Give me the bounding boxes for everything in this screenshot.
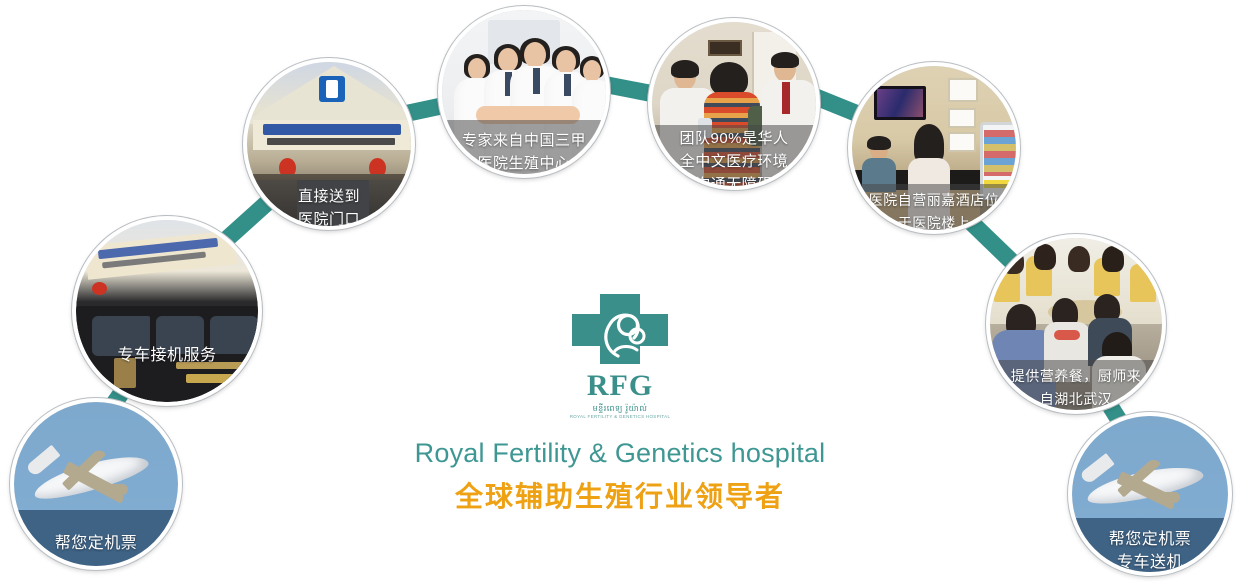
van-icon [76, 220, 258, 402]
node-caption: 帮您定机票 [14, 510, 178, 570]
node-experts-from-china[interactable]: 专家来自中国三甲 医院生殖中心 [438, 6, 610, 178]
node-airport-pickup-service[interactable]: 专车接机服务 [72, 216, 262, 406]
cross-mother-child-icon [540, 292, 700, 366]
infographic-canvas: 帮您定机票 专车接机服务 [0, 0, 1240, 582]
brand-block: Royal Fertility & Genetics hospital 全球辅助… [0, 438, 1240, 515]
hospital-van-photo [76, 220, 258, 402]
node-caption: 直接送到 医院门口 [247, 180, 411, 230]
node-hospital-owned-hotel[interactable]: 医院自营丽嘉酒店位 于医院楼上 [848, 62, 1020, 234]
rfg-logo: RFG មន្ទីរពេទ្យ រ៉ូយ៉ាល់ ROYAL FERTILITY… [540, 292, 700, 400]
brand-english-name: Royal Fertility & Genetics hospital [0, 438, 1240, 469]
logo-acronym: RFG [540, 371, 700, 401]
node-nutritious-meals[interactable]: 提供营养餐，厨师来 自湖北武汉 [986, 234, 1166, 414]
node-caption: 帮您定机票 专车送机 [1072, 518, 1228, 576]
node-caption: 提供营养餐，厨师来 自湖北武汉 [990, 360, 1162, 414]
node-caption: 专家来自中国三甲 医院生殖中心 [442, 120, 606, 178]
logo-subtitle: ROYAL FERTILITY & GENETICS HOSPITAL [540, 414, 700, 419]
node-direct-to-hospital-door[interactable]: 直接送到 医院门口 [243, 58, 415, 230]
node-caption: 医院自营丽嘉酒店位 于医院楼上 [852, 184, 1016, 234]
logo-khmer-text: មន្ទីរពេទ្យ រ៉ូយ៉ាល់ [540, 404, 700, 414]
node-caption: 专车接机服务 [76, 344, 258, 367]
node-caption: 团队90%是华人 全中文医疗环境 沟通无障碍 [652, 125, 816, 190]
node-chinese-speaking-team[interactable]: 团队90%是华人 全中文医疗环境 沟通无障碍 [648, 18, 820, 190]
brand-chinese-tagline: 全球辅助生殖行业领导者 [0, 475, 1240, 515]
